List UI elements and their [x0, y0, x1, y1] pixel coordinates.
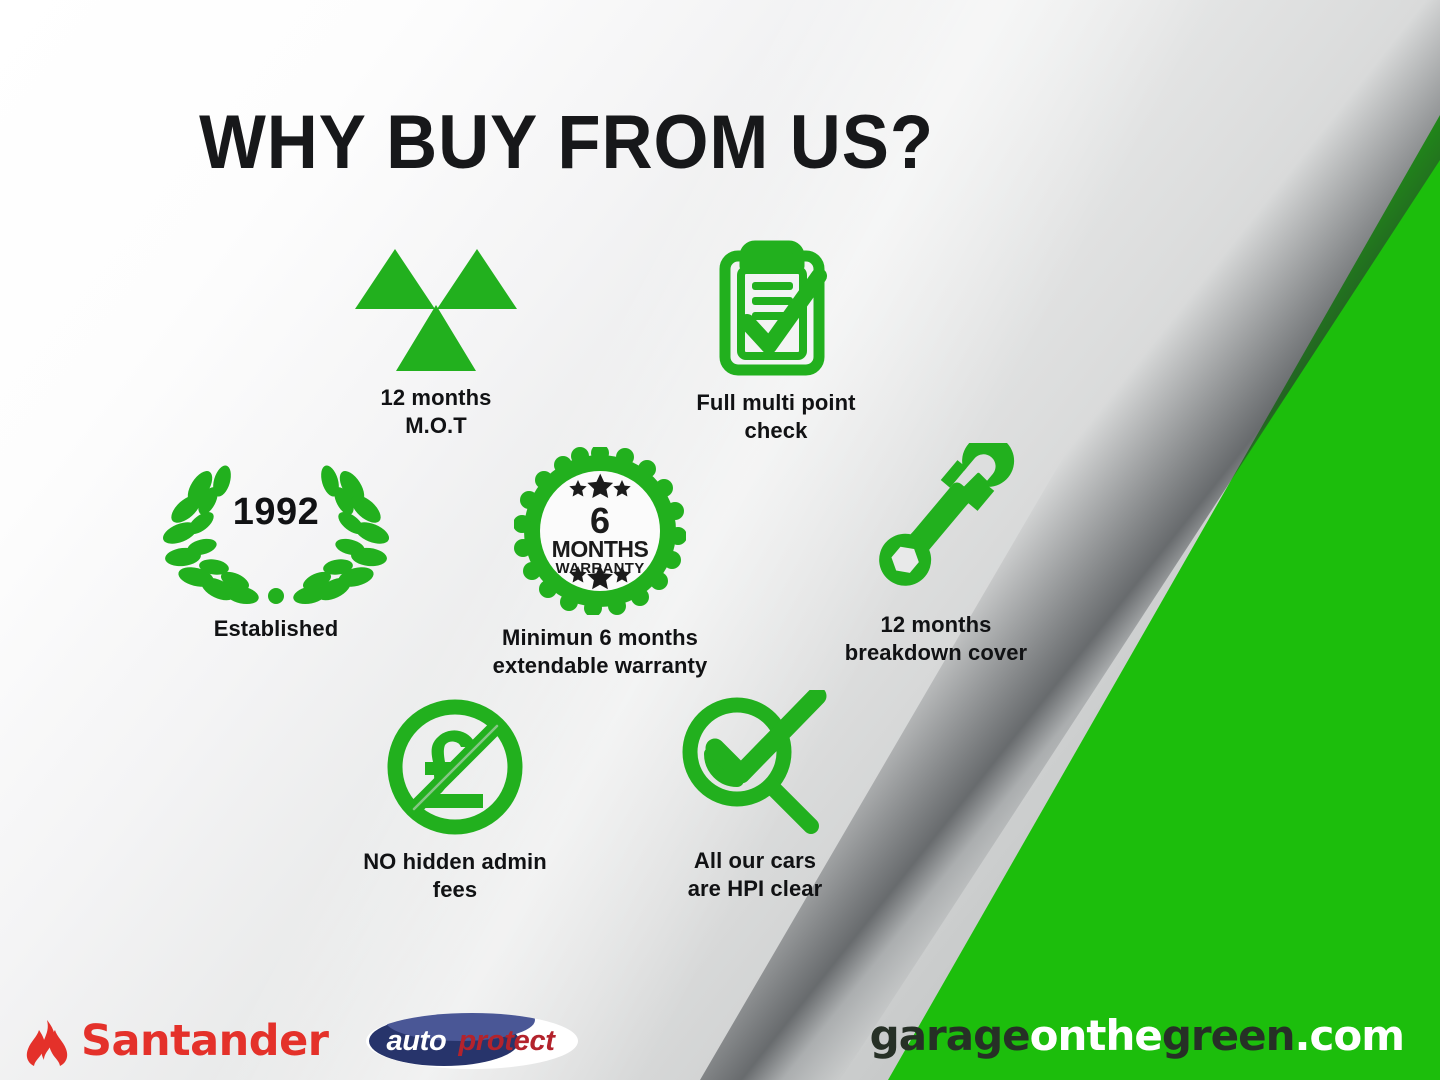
laurel-wreath-icon: 1992 — [156, 455, 396, 605]
clipboard-check-icon — [645, 240, 907, 382]
feature-warranty: 6 MONTHS WARRANTY Minimun 6 months exten… — [440, 447, 760, 681]
caption-line-1: Minimun 6 months — [440, 624, 760, 652]
svg-text:MONTHS: MONTHS — [552, 536, 649, 562]
feature-multi-point-check: Full multi point check — [645, 240, 907, 446]
svg-text:WARRANTY: WARRANTY — [555, 560, 644, 577]
caption-line-1: 12 months — [800, 611, 1072, 639]
caption-line-2: breakdown cover — [800, 639, 1072, 667]
magnifier-check-icon — [630, 690, 880, 840]
caption-line-2: M.O.T — [322, 412, 550, 440]
wrench-screwdriver-icon — [800, 443, 1072, 603]
feature-established-caption: Established — [156, 615, 396, 643]
feature-breakdown-cover-caption: 12 months breakdown cover — [800, 611, 1072, 668]
page-title: WHY BUY FROM US? — [50, 99, 1389, 186]
feature-hpi-clear-caption: All our cars are HPI clear — [630, 847, 880, 904]
feature-no-admin-fees-caption: NO hidden admin fees — [330, 848, 580, 905]
url-part-green: green — [1162, 1011, 1295, 1060]
feature-warranty-caption: Minimun 6 months extendable warranty — [440, 624, 760, 681]
caption-line-1: 12 months — [322, 384, 550, 412]
santander-logo: Santander — [22, 1016, 328, 1066]
feature-established: 1992 Established — [156, 455, 396, 643]
feature-mot: 12 months M.O.T — [322, 243, 550, 441]
caption-line-1: Full multi point — [645, 389, 907, 417]
caption-line-2: are HPI clear — [630, 875, 880, 903]
feature-no-admin-fees: NO hidden admin fees — [330, 693, 580, 905]
caption-line-2: extendable warranty — [440, 652, 760, 680]
established-year: 1992 — [156, 491, 396, 534]
autoprotect-logo: auto protect — [366, 1013, 578, 1069]
url-part-onthe: onthe — [1030, 1011, 1162, 1060]
caption-line-2: check — [645, 417, 907, 445]
feature-hpi-clear: All our cars are HPI clear — [630, 690, 880, 904]
santander-flame-icon — [22, 1016, 72, 1066]
santander-wordmark: Santander — [81, 1016, 328, 1066]
no-pound-fees-icon — [330, 693, 580, 841]
autoprotect-word-protect: protect — [458, 1025, 554, 1058]
caption-line-1: NO hidden admin — [330, 848, 580, 876]
url-part-garage: garage — [870, 1011, 1030, 1060]
svg-text:6: 6 — [590, 500, 610, 541]
feature-breakdown-cover: 12 months breakdown cover — [800, 443, 1072, 668]
feature-multi-point-check-caption: Full multi point check — [645, 389, 907, 446]
caption-line-1: Established — [156, 615, 396, 643]
caption-line-2: fees — [330, 876, 580, 904]
mot-triangles-icon — [322, 243, 550, 377]
autoprotect-word-auto: auto — [386, 1025, 446, 1058]
partner-logos: Santander auto protect — [0, 1002, 900, 1080]
website-url: garageonthegreen.com — [870, 1011, 1404, 1060]
url-part-com: .com — [1295, 1011, 1404, 1060]
why-buy-from-us-poster: WHY BUY FROM US? 12 months M.O.T — [0, 0, 1440, 1080]
feature-mot-caption: 12 months M.O.T — [322, 384, 550, 441]
caption-line-1: All our cars — [630, 847, 880, 875]
warranty-badge-icon: 6 MONTHS WARRANTY — [440, 447, 760, 615]
